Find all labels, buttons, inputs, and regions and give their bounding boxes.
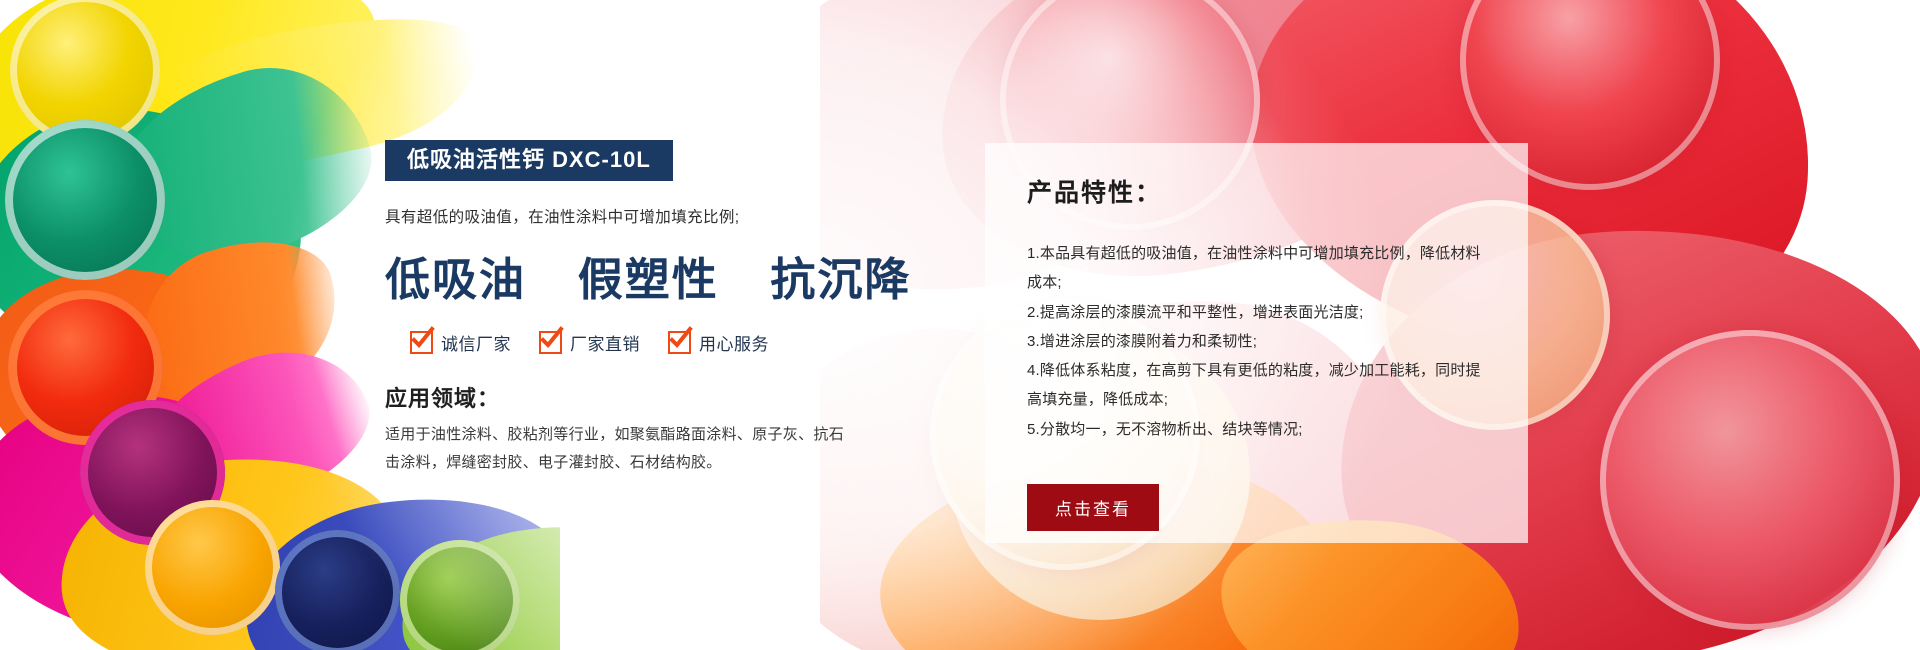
checkbox-checked-icon [668,331,691,354]
trust-badge-2: 厂家直销 [539,330,640,355]
headline-word-1: 低吸油 [385,253,526,306]
product-features-panel: 产品特性： 1.本品具有超低的吸油值，在油性涂料中可增加填充比例，降低材料成本;… [985,143,1528,543]
headline-word-2: 假塑性 [578,253,719,306]
red-paint-cup [8,290,163,445]
headline-word-3: 抗沉降 [770,253,911,306]
purple-paint-cup [80,400,225,545]
product-title-badge: 低吸油活性钙 DXC-10L [385,140,673,181]
feature-list-item: 3.增进涂层的漆膜附着力和柔韧性; [1027,327,1486,356]
crimson-petri-dish [1600,330,1900,630]
feature-list-item: 1.本品具有超低的吸油值，在油性涂料中可增加填充比例，降低材料成本; [1027,239,1486,298]
checkbox-checked-icon [410,331,433,354]
amber-paint-cup [145,500,280,635]
trust-badge-label-3: 用心服务 [699,330,769,355]
feature-list: 1.本品具有超低的吸油值，在油性涂料中可增加填充比例，降低材料成本; 2.提高涂… [1027,239,1486,444]
magenta-paint-stroke [0,376,313,650]
magenta-paint-stroke-2 [132,324,388,536]
hero-text-column: 低吸油活性钙 DXC-10L 具有超低的吸油值，在油性涂料中可增加填充比例; 低… [385,140,945,477]
trust-badge-label-1: 诚信厂家 [441,330,511,355]
lime-paint-cup [400,540,520,650]
orange-paint-stroke [0,246,298,525]
green-paint-stroke [0,93,313,386]
trust-badge-label-2: 厂家直销 [570,330,640,355]
gold-paint-stroke [50,443,410,650]
yellow-paint-cup [10,0,160,145]
feature-list-item: 5.分散均一，无不溶物析出、结块等情况; [1027,415,1486,444]
green-paint-cup [5,120,165,280]
feature-headline: 低吸油 假塑性 抗沉降 [385,243,945,308]
application-heading: 应用领域： [385,381,945,413]
trust-badge-3: 用心服务 [668,330,769,355]
green-paint-stroke-2 [100,44,390,286]
white-vignette-overlay [0,0,1920,650]
orange-paint-stroke-2 [122,218,359,422]
checkbox-checked-icon [539,331,562,354]
application-body: 适用于油性涂料、胶粘剂等行业，如聚氨酯路面涂料、原子灰、抗石击涂料，焊缝密封胶、… [385,421,850,477]
blue-paint-stroke [233,478,560,650]
navy-paint-cup [275,530,400,650]
view-details-button[interactable]: 点击查看 [1027,484,1159,531]
feature-list-item: 2.提高涂层的漆膜流平和平整性，增进表面光洁度; [1027,298,1486,327]
trust-badge-row: 诚信厂家 厂家直销 用心服务 [410,330,945,355]
trust-badge-1: 诚信厂家 [410,330,511,355]
product-subtitle: 具有超低的吸油值，在油性涂料中可增加填充比例; [385,205,945,227]
feature-list-item: 4.降低体系粘度，在高剪下具有更低的粘度，减少加工能耗，同时提高填充量，降低成本… [1027,356,1486,415]
yellow-paint-stroke [0,0,394,212]
panel-title: 产品特性： [1027,173,1486,209]
lime-paint-stroke [389,509,560,650]
product-hero-banner: 低吸油活性钙 DXC-10L 具有超低的吸油值，在油性涂料中可增加填充比例; 低… [0,0,1920,650]
